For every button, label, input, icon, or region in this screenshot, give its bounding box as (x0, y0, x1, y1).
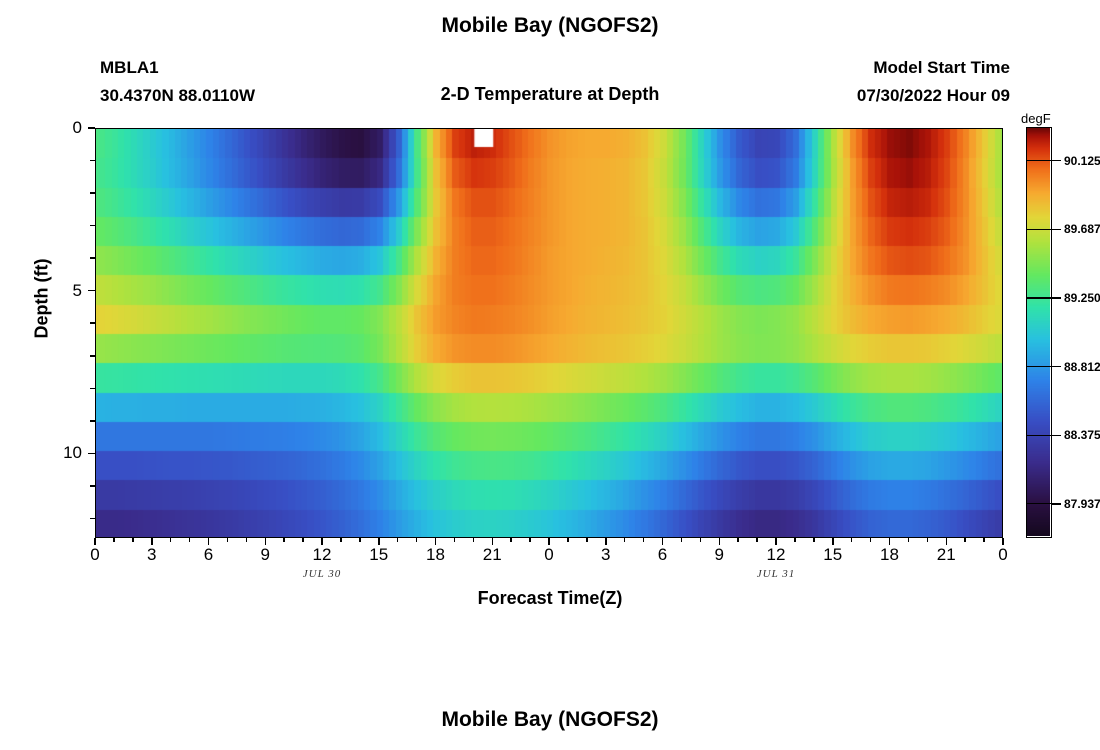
x-axis-minor-tick (473, 538, 475, 542)
x-axis-tick-label: 9 (261, 545, 270, 565)
colorbar-units-label: degF (1021, 111, 1051, 126)
y-axis-minor-tick (90, 355, 95, 357)
x-axis-minor-tick (132, 538, 134, 542)
y-axis-tick-label: 5 (48, 281, 82, 301)
x-axis-tick (1002, 538, 1004, 545)
heatmap-canvas (96, 129, 1003, 538)
x-axis-tick-label: 0 (90, 545, 99, 565)
y-axis-tick-label: 10 (48, 443, 82, 463)
x-axis-minor-tick (529, 538, 531, 542)
x-axis-date-label: JUL 31 (757, 568, 796, 580)
x-axis-minor-tick (567, 538, 569, 542)
x-axis-minor-tick (908, 538, 910, 542)
x-axis-minor-tick (416, 538, 418, 542)
x-axis-tick-label: 21 (483, 545, 502, 565)
colorbar-tick (1052, 160, 1061, 162)
x-axis-minor-tick (756, 538, 758, 542)
model-start-time-value: 07/30/2022 Hour 09 (700, 86, 1010, 106)
x-axis-tick-label: 15 (823, 545, 842, 565)
colorbar-tick (1052, 435, 1061, 437)
x-axis-tick-label: 3 (601, 545, 610, 565)
x-axis-minor-tick (737, 538, 739, 542)
y-axis-minor-tick (90, 192, 95, 194)
y-axis-minor-tick (90, 160, 95, 162)
x-axis-tick-label: 6 (658, 545, 667, 565)
y-axis-minor-tick (90, 257, 95, 259)
x-axis-minor-tick (359, 538, 361, 542)
x-axis-tick (321, 538, 323, 545)
x-axis-tick-label: 0 (998, 545, 1007, 565)
colorbar-tick (1052, 503, 1061, 505)
colorbar-tick (1052, 229, 1061, 231)
x-axis-tick (662, 538, 664, 545)
page-title-bottom: Mobile Bay (NGOFS2) (0, 708, 1100, 732)
chart-subtitle: 2-D Temperature at Depth (350, 84, 750, 105)
x-axis-minor-tick (624, 538, 626, 542)
x-axis-minor-tick (813, 538, 815, 542)
x-axis-tick (208, 538, 210, 545)
x-axis-minor-tick (302, 538, 304, 542)
colorbar-tick-inner (1027, 297, 1051, 298)
colorbar-tick-inner (1027, 366, 1051, 367)
x-axis-tick (378, 538, 380, 545)
y-axis-minor-tick (90, 388, 95, 390)
colorbar (1026, 127, 1052, 538)
heatmap-plot-area (95, 128, 1003, 538)
colorbar-tick-label: 88.8125 (1064, 360, 1100, 374)
colorbar-tick (1052, 297, 1061, 299)
y-axis-tick-label: 0 (48, 118, 82, 138)
x-axis-tick-label: 15 (369, 545, 388, 565)
x-axis-tick (832, 538, 834, 545)
x-axis-minor-tick (983, 538, 985, 542)
x-axis-tick-label: 0 (544, 545, 553, 565)
colorbar-tick-inner (1027, 160, 1051, 161)
x-axis-tick-label: 3 (147, 545, 156, 565)
colorbar-tick-inner (1027, 435, 1051, 436)
x-axis-tick (889, 538, 891, 545)
y-axis-minor-tick (90, 225, 95, 227)
x-axis-minor-tick (510, 538, 512, 542)
x-axis-tick-label: 9 (715, 545, 724, 565)
colorbar-tick-label: 89.2500 (1064, 291, 1100, 305)
x-axis-minor-tick (227, 538, 229, 542)
x-axis-title: Forecast Time(Z) (350, 588, 750, 609)
colorbar-tick-inner (1027, 503, 1051, 504)
y-axis-minor-tick (90, 322, 95, 324)
x-axis-minor-tick (681, 538, 683, 542)
x-axis-tick (151, 538, 153, 545)
x-axis-tick (94, 538, 96, 545)
x-axis-tick-label: 18 (426, 545, 445, 565)
colorbar-tick-label: 87.9375 (1064, 497, 1100, 511)
x-axis-tick (946, 538, 948, 545)
page-title: Mobile Bay (NGOFS2) (0, 14, 1100, 38)
x-axis-minor-tick (397, 538, 399, 542)
x-axis-tick-label: 12 (767, 545, 786, 565)
x-axis-minor-tick (586, 538, 588, 542)
colorbar-tick-inner (1027, 229, 1051, 230)
station-coordinates: 30.4370N 88.0110W (100, 86, 255, 106)
x-axis-minor-tick (454, 538, 456, 542)
colorbar-tick (1052, 366, 1061, 368)
y-axis-minor-tick (90, 485, 95, 487)
x-axis-minor-tick (700, 538, 702, 542)
colorbar-tick-label: 90.1250 (1064, 154, 1100, 168)
x-axis-minor-tick (851, 538, 853, 542)
x-axis-tick-label: 18 (880, 545, 899, 565)
x-axis-minor-tick (927, 538, 929, 542)
x-axis-minor-tick (964, 538, 966, 542)
x-axis-tick (775, 538, 777, 545)
x-axis-tick-label: 21 (937, 545, 956, 565)
y-axis-tick (88, 453, 95, 455)
station-id: MBLA1 (100, 58, 159, 78)
x-axis-minor-tick (794, 538, 796, 542)
colorbar-canvas (1027, 128, 1050, 536)
colorbar-tick-label: 88.3750 (1064, 428, 1100, 442)
x-axis-tick-label: 6 (204, 545, 213, 565)
x-axis-tick (265, 538, 267, 545)
x-axis-minor-tick (870, 538, 872, 542)
y-axis-minor-tick (90, 518, 95, 520)
x-axis-minor-tick (340, 538, 342, 542)
x-axis-minor-tick (283, 538, 285, 542)
x-axis-tick (605, 538, 607, 545)
y-axis-tick (88, 127, 95, 129)
x-axis-minor-tick (170, 538, 172, 542)
x-axis-tick (435, 538, 437, 545)
x-axis-minor-tick (189, 538, 191, 542)
x-axis-tick (548, 538, 550, 545)
x-axis-date-label: JUL 30 (303, 568, 342, 580)
x-axis-minor-tick (246, 538, 248, 542)
y-axis-tick (88, 290, 95, 292)
model-start-time-label: Model Start Time (700, 58, 1010, 78)
x-axis-tick (492, 538, 494, 545)
x-axis-tick (719, 538, 721, 545)
y-axis-minor-tick (90, 420, 95, 422)
x-axis-minor-tick (113, 538, 115, 542)
colorbar-tick-label: 89.6875 (1064, 222, 1100, 236)
x-axis-tick-label: 12 (313, 545, 332, 565)
x-axis-minor-tick (643, 538, 645, 542)
